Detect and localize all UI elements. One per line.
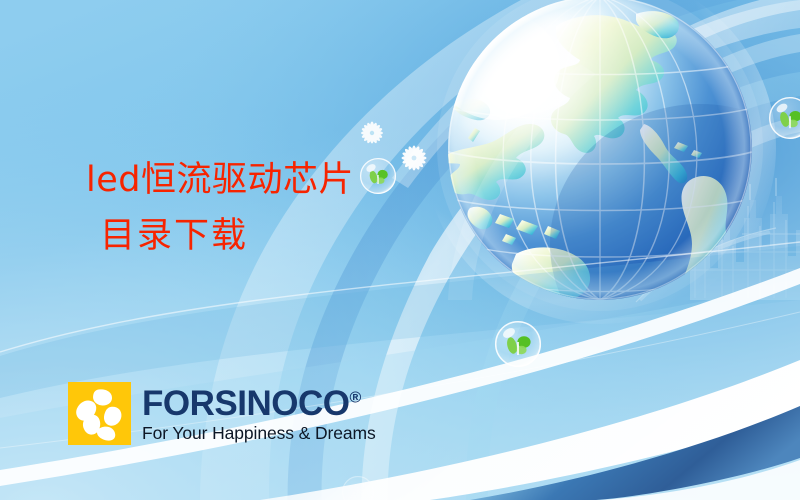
banner-image: led恒流驱动芯片 目录下载 [0,0,800,500]
logo-wordmark: FORSINOCO® [142,386,376,421]
headline-line-2: 目录下载 [86,219,354,254]
headline: led恒流驱动芯片 目录下载 [86,163,354,254]
registered-trademark-icon: ® [349,389,361,406]
logo-tagline: For Your Happiness & Dreams [142,425,376,443]
headline-line-1: led恒流驱动芯片 [86,163,354,198]
logo-wordmark-text: FORSINOCO [142,384,349,423]
four-petal-pinwheel-icon [68,382,131,445]
company-logo: FORSINOCO® For Your Happiness & Dreams [68,382,376,445]
bubble-small-left [360,158,396,194]
logo-text-block: FORSINOCO® For Your Happiness & Dreams [142,382,376,443]
bubble-small-center [495,321,541,367]
